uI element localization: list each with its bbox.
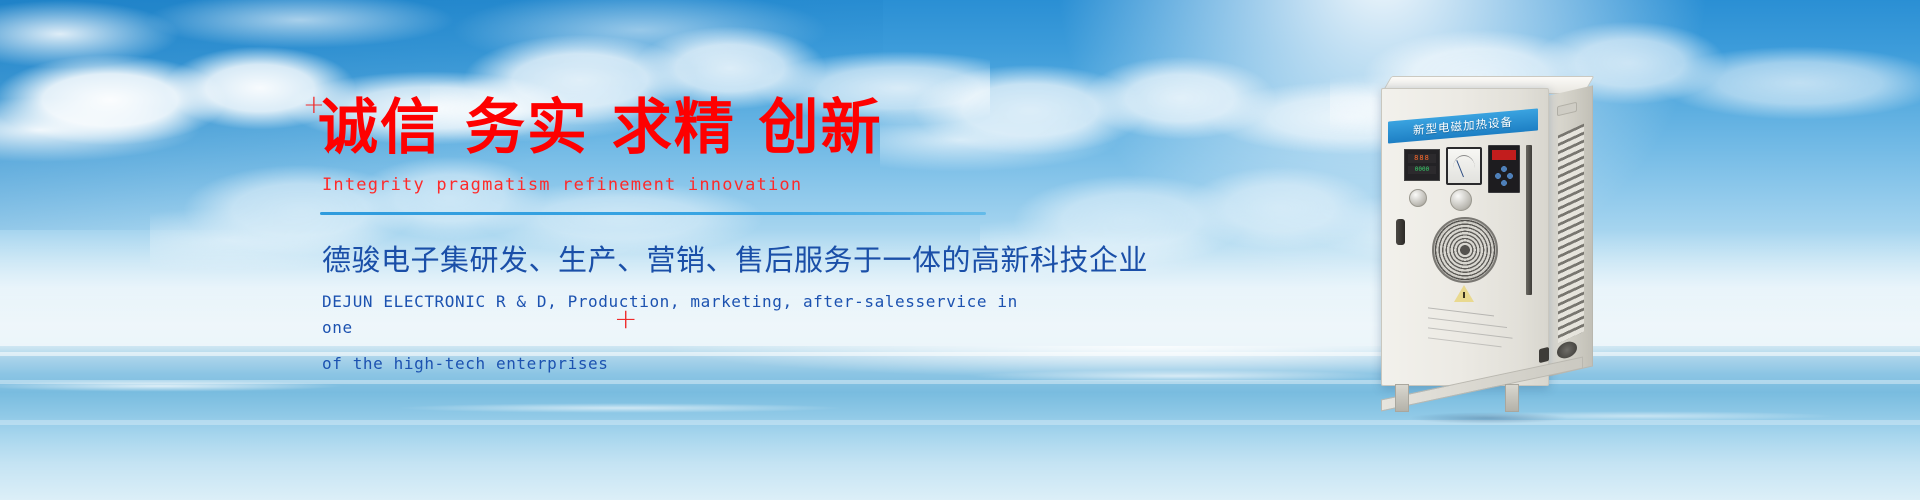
divider-rule <box>320 212 986 215</box>
banner-copy-block: 诚信 务实 求精 创新 Integrity pragmatism refinem… <box>318 96 1018 377</box>
lead-english-line-1: DEJUN ELECTRONIC R & D, Production, mark… <box>322 289 1018 341</box>
lead-chinese: 德骏电子集研发、生产、营销、售后服务于一体的高新科技企业 <box>322 237 1018 279</box>
machine-label-text: 新型电磁加热设备 <box>1413 114 1513 139</box>
headline-chinese: 诚信 务实 求精 创新 <box>318 96 1018 161</box>
machine-spec-text-lines <box>1428 305 1520 358</box>
machine-label-plate: 新型电磁加热设备 <box>1388 108 1538 143</box>
inverter-control-module <box>1488 145 1520 193</box>
machine-foot <box>1505 384 1519 412</box>
machine-front-panel: 新型电磁加热设备 888 0000 <box>1381 88 1549 386</box>
hero-banner: + + 诚信 务实 求精 创新 Integrity pragmatism ref… <box>0 0 1920 500</box>
inverter-keypad-icon <box>1495 166 1513 186</box>
headline-english: Integrity pragmatism refinement innovati… <box>322 175 1018 195</box>
machine-side-panel <box>1547 85 1593 377</box>
control-knob-small[interactable] <box>1409 189 1427 207</box>
machine-ground-shadow <box>1375 410 1601 426</box>
product-machine: 新型电磁加热设备 888 0000 <box>1381 66 1609 416</box>
inverter-display <box>1492 150 1516 160</box>
digital-readout-primary: 888 <box>1408 154 1436 163</box>
analog-meter <box>1446 147 1482 185</box>
digital-readout-secondary: 0000 <box>1408 166 1436 174</box>
machine-door-handle[interactable] <box>1396 219 1405 245</box>
digital-display: 888 0000 <box>1404 149 1440 181</box>
control-knob-large[interactable] <box>1450 189 1472 211</box>
machine-door-edge <box>1526 145 1532 295</box>
warning-triangle-icon <box>1454 285 1474 302</box>
cooling-fan-grille <box>1432 217 1498 283</box>
machine-cable-port <box>1539 347 1549 363</box>
lead-english-line-2: of the high-tech enterprises <box>322 351 1018 377</box>
machine-foot <box>1395 384 1409 412</box>
machine-vent-louvers <box>1558 123 1584 343</box>
